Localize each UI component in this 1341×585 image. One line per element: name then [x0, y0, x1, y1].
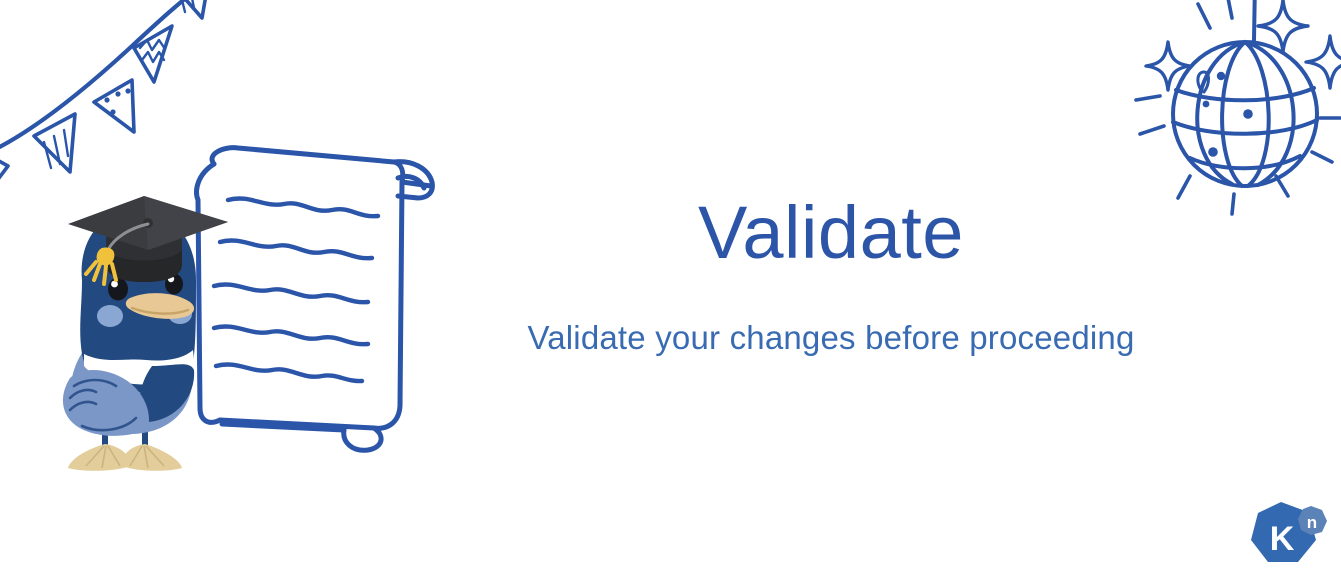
logo-n-letter: n	[1307, 513, 1317, 532]
disco-ball-icon	[1128, 0, 1341, 227]
certificate-scroll-icon	[176, 138, 466, 456]
party-bunting-flags-icon	[0, 0, 222, 180]
page-subtitle: Validate your changes before proceeding	[466, 270, 1196, 358]
slide-text-block: Validate Validate your changes before pr…	[466, 196, 1196, 358]
graduate-bird-mascot-icon	[52, 188, 242, 474]
logo-k-letter: K	[1270, 520, 1295, 558]
page-title: Validate	[466, 196, 1196, 270]
kn-logo: K n	[1246, 500, 1332, 574]
slide-canvas: Validate Validate your changes before pr…	[0, 0, 1341, 585]
